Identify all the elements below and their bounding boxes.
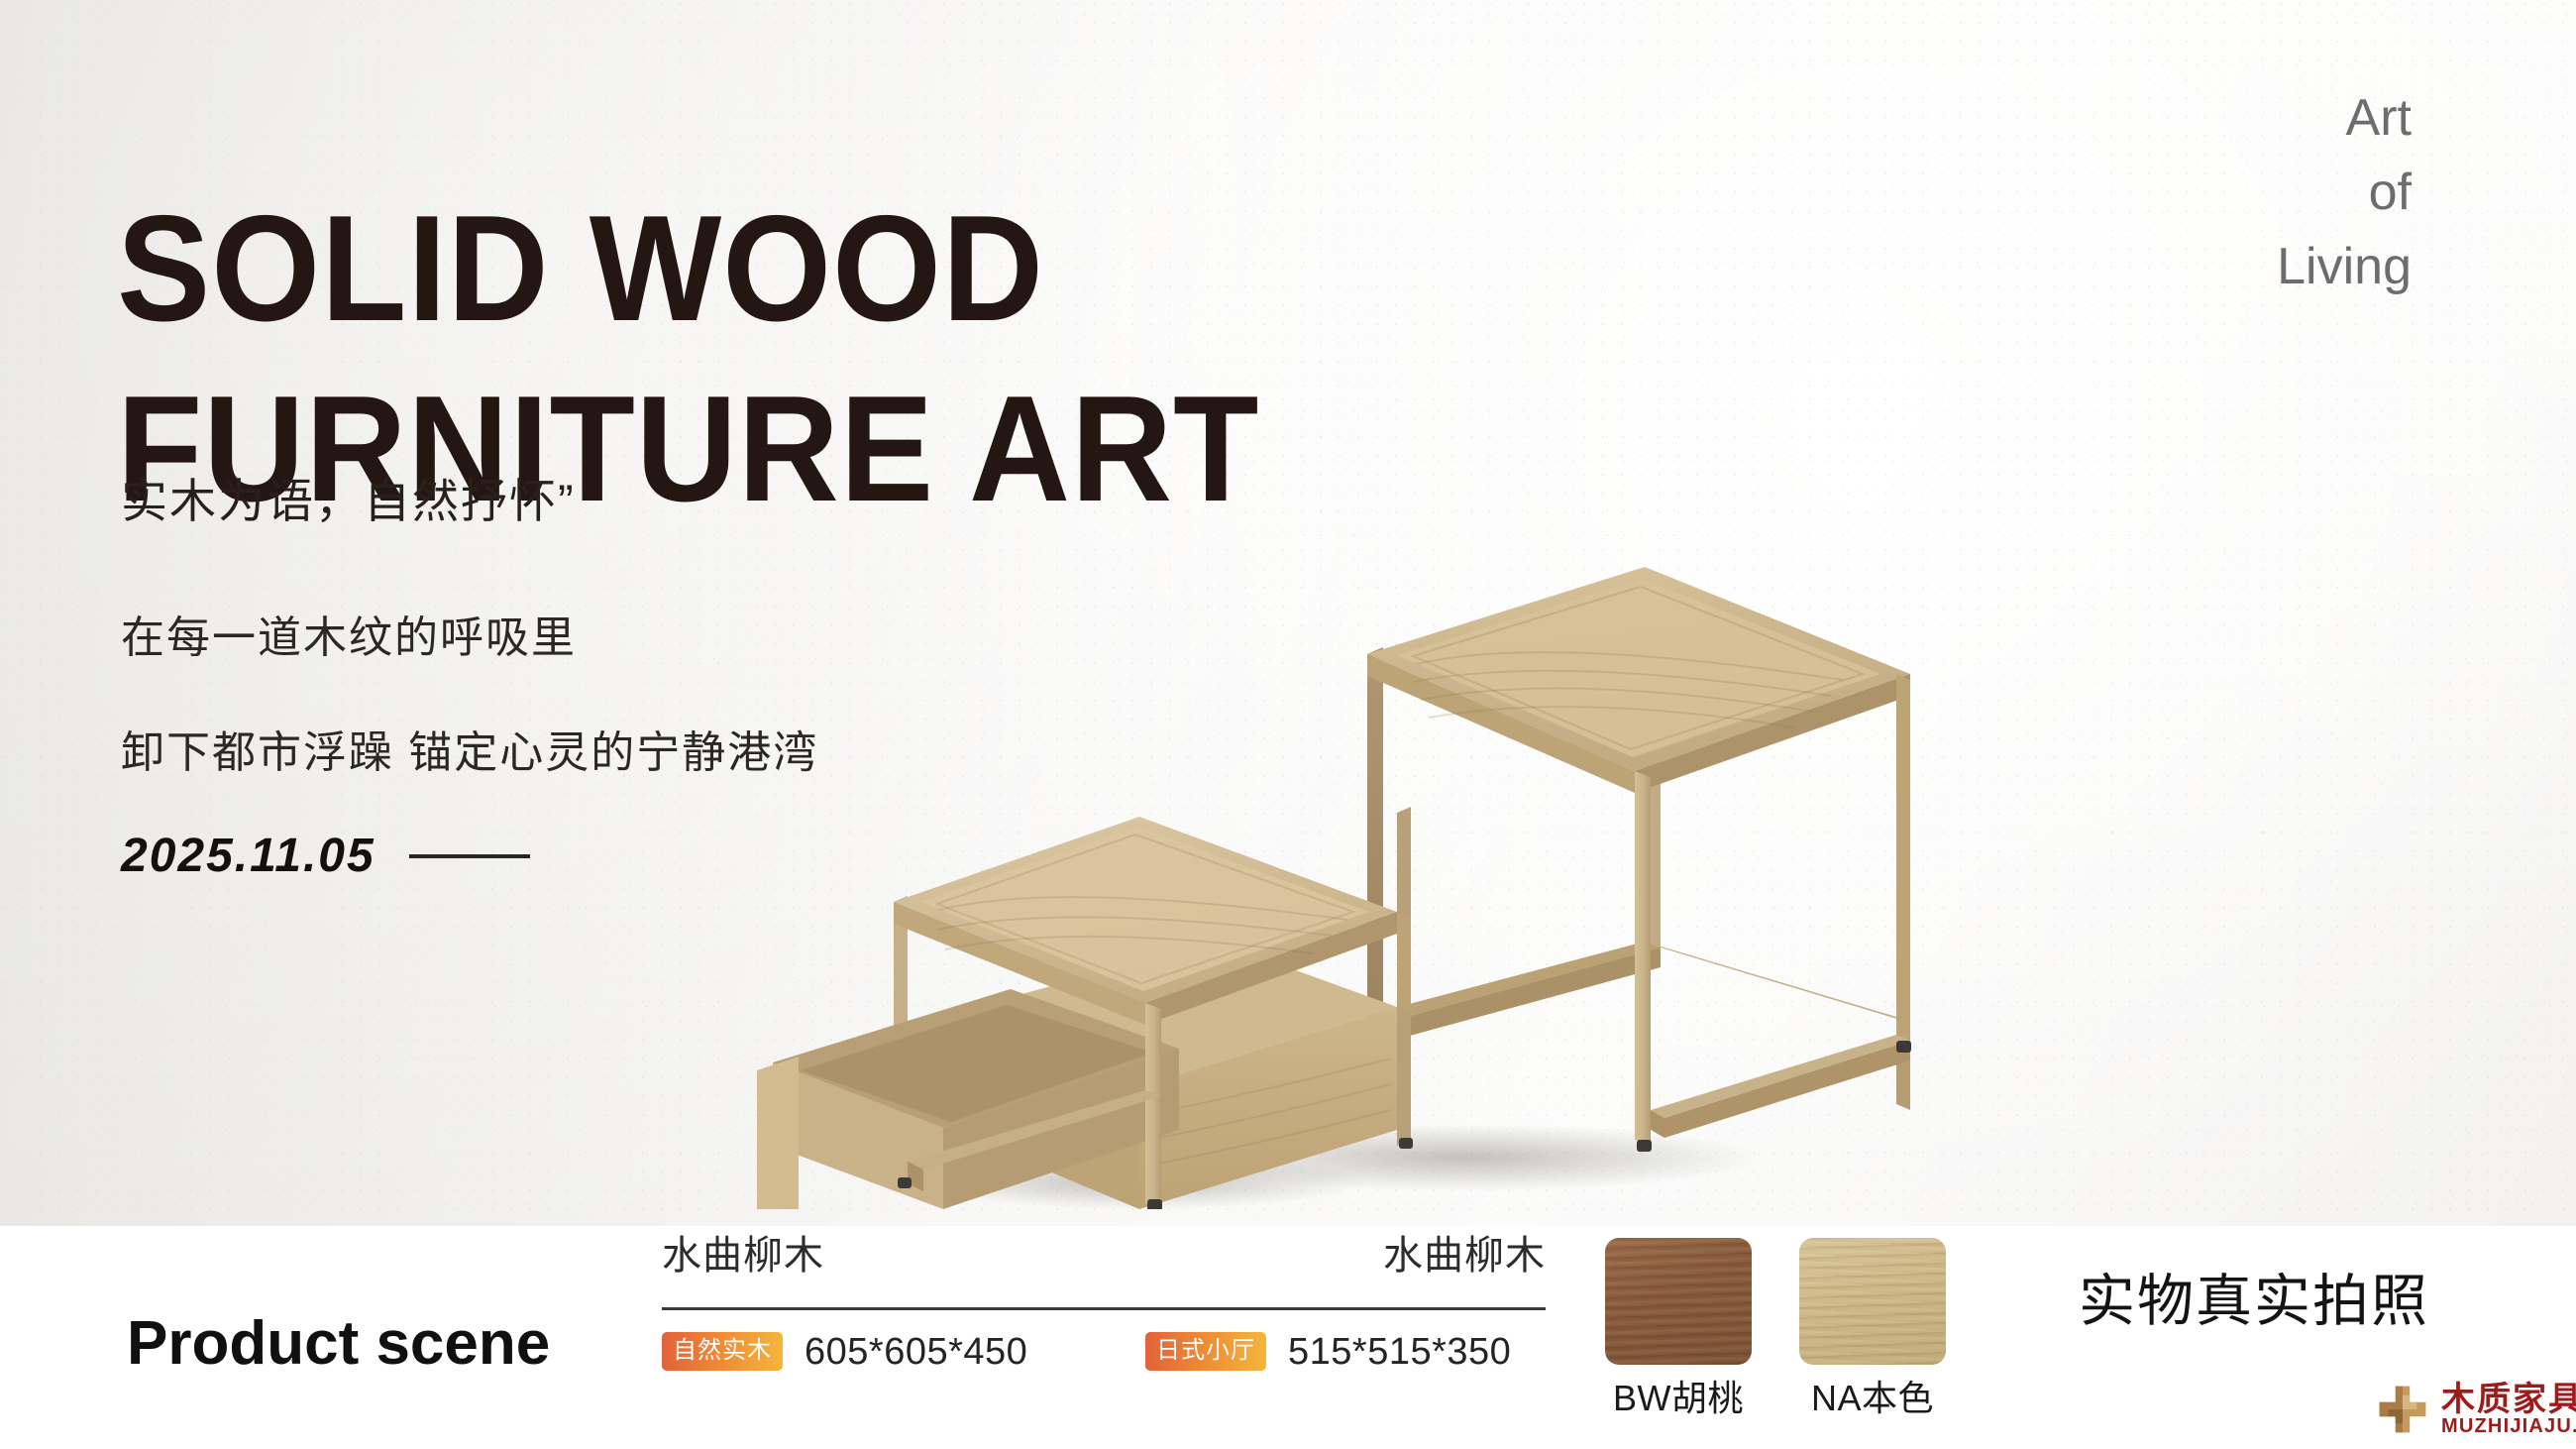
headline-line-1: SOLID WOOD [117,178,1499,359]
spec-row: 自然实木 605*605*450 [662,1332,1027,1371]
product-photo [713,515,1972,1209]
specs-block: 水曲柳木 水曲柳木 自然实木 605*605*450 日式小厅 515*515*… [662,1236,1546,1401]
wood-cross-icon [2376,1383,2429,1436]
spec-tag-badge: 日式小厅 [1145,1332,1266,1371]
brand-logo: 木质家具 MUZHIJIAJU.CN [2376,1383,2576,1436]
date-rule-divider [409,854,530,858]
color-swatches: BW胡桃 NA本色 [1605,1238,1946,1416]
poster-canvas: SOLID WOOD FURNITURE ART 实木为语，自然抒怀” 在每一道… [0,0,2576,1449]
tagline-line-3: Living [2277,230,2412,304]
material-names-row: 水曲柳木 水曲柳木 [662,1236,1546,1297]
brand-name-cn: 木质家具 [2441,1381,2576,1418]
tagline-line-2: of [2277,156,2412,230]
spec-tag-badge: 自然实木 [662,1332,783,1371]
spec-dimensions: 605*605*450 [805,1333,1027,1371]
material-name-left: 水曲柳木 [662,1236,824,1276]
date-block: 2025.11.05 [121,833,530,880]
swatch-chip-natural[interactable] [1799,1238,1946,1365]
lede-text: 实木为语，自然抒怀” [121,478,576,524]
brand-tagline: Art of Living [2277,81,2412,304]
spec-dimensions: 515*515*350 [1288,1333,1511,1371]
footer-bar: Product scene 水曲柳木 水曲柳木 自然实木 605*605*450… [0,1226,2576,1449]
real-photo-note: 实物真实拍照 [2079,1274,2429,1330]
section-label: Product scene [127,1313,550,1375]
tagline-line-1: Art [2277,81,2412,156]
swatch-label: NA本色 [1799,1381,1946,1416]
brand-wordmark: 木质家具 MUZHIJIAJU.CN [2441,1383,2576,1436]
swatch-label: BW胡桃 [1605,1381,1752,1416]
swatch-chip-walnut[interactable] [1605,1238,1752,1365]
material-name-right: 水曲柳木 [1383,1236,1546,1276]
specs-rows: 自然实木 605*605*450 日式小厅 515*515*350 [662,1332,1546,1401]
specs-divider [662,1307,1546,1310]
brand-name-en: MUZHIJIAJU.CN [2441,1415,2576,1437]
body-line-2: 在每一道木纹的呼吸里 [121,616,577,660]
swatch-item[interactable]: NA本色 [1799,1238,1946,1416]
spec-row: 日式小厅 515*515*350 [1145,1332,1511,1371]
swatch-item[interactable]: BW胡桃 [1605,1238,1752,1416]
date-text: 2025.11.05 [121,833,376,880]
